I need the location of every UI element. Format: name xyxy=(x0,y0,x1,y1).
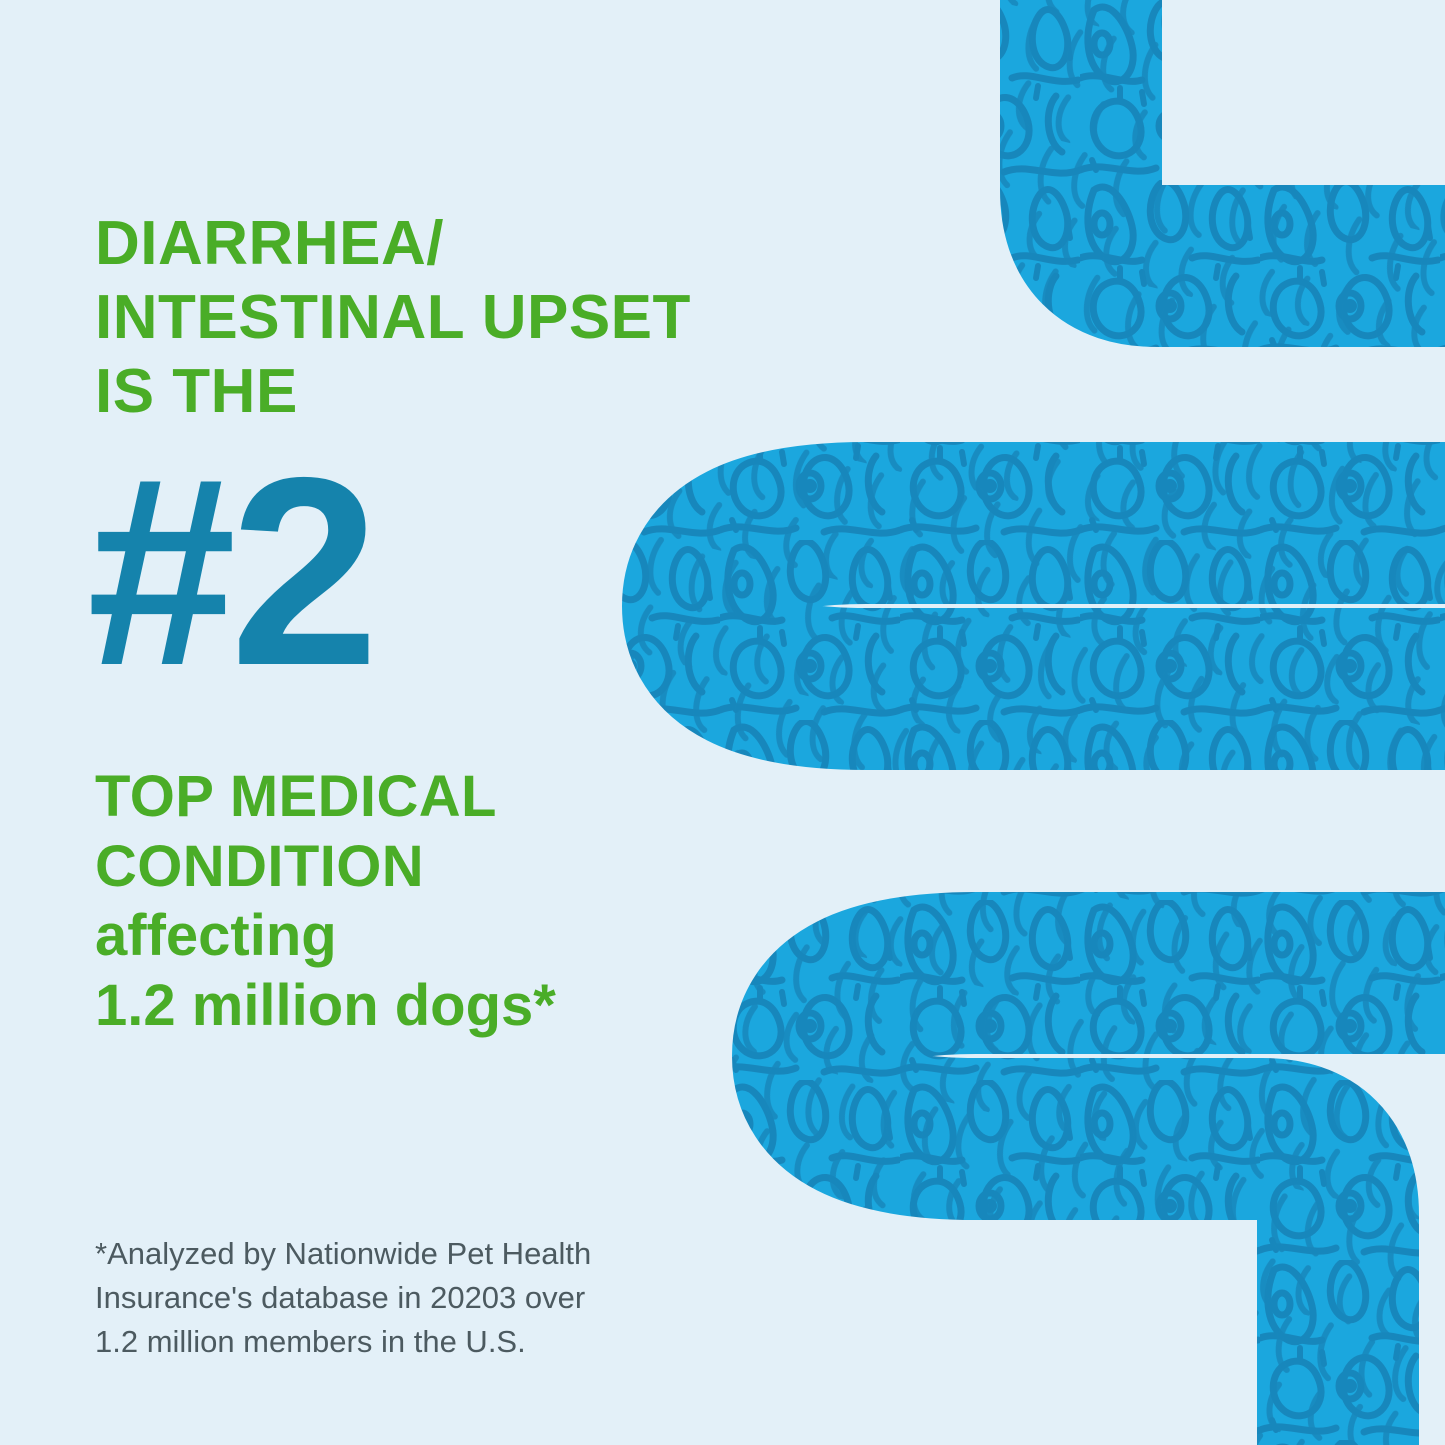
footnote: *Analyzed by Nationwide Pet Health Insur… xyxy=(95,1232,785,1364)
rank-number-block: #2 xyxy=(87,437,607,727)
headline: DIARRHEA/ INTESTINAL UPSET IS THE xyxy=(95,207,785,428)
footnote-line-1: *Analyzed by Nationwide Pet Health xyxy=(95,1232,785,1276)
footnote-line-2: Insurance's database in 20203 over xyxy=(95,1276,785,1320)
footnote-line-3: 1.2 million members in the U.S. xyxy=(95,1320,785,1364)
headline-line-1: DIARRHEA/ xyxy=(95,207,785,281)
rank-number: #2 xyxy=(87,437,607,705)
text-column: DIARRHEA/ INTESTINAL UPSET IS THE #2 TOP… xyxy=(95,0,795,1445)
headline-line-2: INTESTINAL UPSET xyxy=(95,281,785,355)
infographic-canvas: DIARRHEA/ INTESTINAL UPSET IS THE #2 TOP… xyxy=(0,0,1445,1445)
subheadline-line-1: TOP MEDICAL xyxy=(95,762,785,832)
headline-line-3: IS THE xyxy=(95,355,785,429)
subheadline-line-4: 1.2 million dogs* xyxy=(95,971,785,1041)
subheadline-line-2: CONDITION xyxy=(95,832,785,902)
subheadline-line-3: affecting xyxy=(95,901,785,971)
subheadline: TOP MEDICAL CONDITION affecting 1.2 mill… xyxy=(95,762,785,1040)
